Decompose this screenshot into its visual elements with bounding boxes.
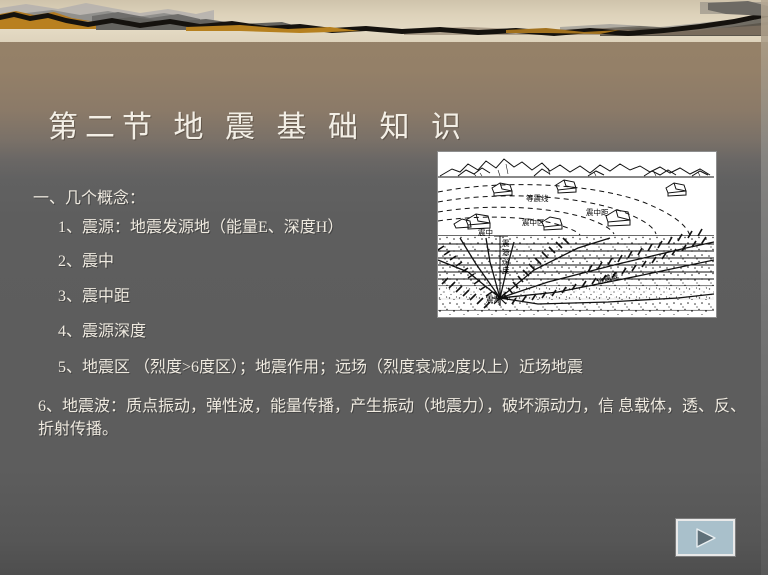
concept-item-1: 1、震源：地震发源地（能量E、深度H） xyxy=(58,218,343,237)
concept-item-6: 6、地震波：质点振动，弹性波，能量传播，产生振动（地震力），破坏源动力，信 息载… xyxy=(38,395,758,441)
diagram-label-epicentral-distance: 震中距 xyxy=(586,207,609,217)
presentation-slide: 第二节 地 震 基 础 知 识 一、几个概念： 1、震源：地震发源地（能量E、深… xyxy=(0,0,768,575)
diagram-label-epicenter: 震中 xyxy=(478,227,493,237)
svg-text:源: 源 xyxy=(502,248,510,257)
next-slide-button[interactable] xyxy=(676,519,735,556)
right-edge-strip xyxy=(761,0,768,575)
concept-item-4: 4、震源深度 xyxy=(58,322,146,341)
banner-mountain-art xyxy=(0,0,768,42)
concept-item-2: 2、震中 xyxy=(58,252,114,271)
play-triangle-icon xyxy=(693,527,719,549)
header-landscape-banner xyxy=(0,0,768,42)
svg-text:度: 度 xyxy=(502,265,510,275)
diagram-label-isoseismal: 等震线 xyxy=(526,193,549,203)
section-heading: 一、几个概念： xyxy=(33,189,145,208)
earthquake-cross-section-diagram: 等震线 震中距 震中区 震中 地震波 震源 震 源 深 度 xyxy=(437,151,717,318)
slide-title: 第二节 地 震 基 础 知 识 xyxy=(48,102,468,146)
diagram-label-focal-depth: 震 源 深 度 xyxy=(502,239,510,275)
svg-text:深: 深 xyxy=(502,257,510,266)
diagram-art: 等震线 震中距 震中区 震中 地震波 震源 震 源 深 度 xyxy=(438,152,714,315)
diagram-label-epicentral-area: 震中区 xyxy=(522,217,545,227)
diagram-label-focus: 震源 xyxy=(486,295,501,304)
svg-text:震: 震 xyxy=(502,239,510,248)
concept-item-5: 5、地震区 （烈度>6度区）；地震作用；远场（烈度衰减2度以上）近场地震 xyxy=(58,358,583,377)
concept-item-3: 3、震中距 xyxy=(58,287,130,306)
